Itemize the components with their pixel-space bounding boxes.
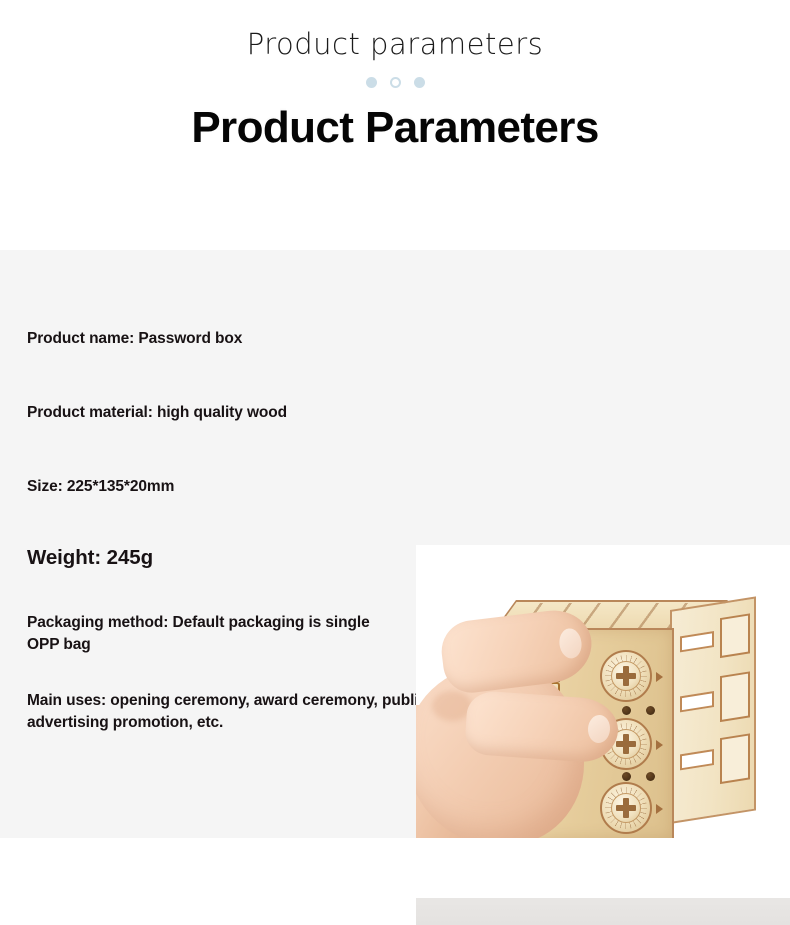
header-band: Product parameters Product Parameters Pr… <box>0 0 790 250</box>
spec-product-material: Product material: high quality wood <box>27 402 287 424</box>
hand <box>416 607 636 857</box>
spec-product-name: Product name: Password box <box>27 328 242 350</box>
spec-size: Size: 225*135*20mm <box>27 476 174 498</box>
dot-2 <box>390 77 401 88</box>
dial-marker-1 <box>656 672 663 682</box>
side-tab-1 <box>720 613 750 658</box>
content-band: Product name: Password box Product mater… <box>0 250 790 838</box>
dot-indicator-group <box>0 77 790 88</box>
dot-3 <box>414 77 425 88</box>
side-notch-1 <box>680 631 714 652</box>
page-title: Product Parameters <box>0 103 790 152</box>
eyebrow-title: Product parameters <box>0 30 790 59</box>
dial-marker-2 <box>656 740 663 750</box>
dial-marker-3 <box>656 804 663 814</box>
peg-4 <box>646 772 655 781</box>
side-tab-3 <box>720 733 750 784</box>
peg-2 <box>646 706 655 715</box>
index-finger <box>438 606 596 696</box>
side-notch-2 <box>680 691 714 712</box>
thumb <box>464 690 620 764</box>
side-tab-2 <box>720 671 750 722</box>
index-fingernail <box>558 627 583 659</box>
box-side-face <box>670 596 756 824</box>
footer-band <box>0 838 790 898</box>
spec-packaging: Packaging method: Default packaging is s… <box>27 612 399 656</box>
spec-weight: Weight: 245g <box>27 543 153 572</box>
side-notch-3 <box>680 749 714 770</box>
dot-1 <box>366 77 377 88</box>
thumbnail <box>587 714 611 743</box>
